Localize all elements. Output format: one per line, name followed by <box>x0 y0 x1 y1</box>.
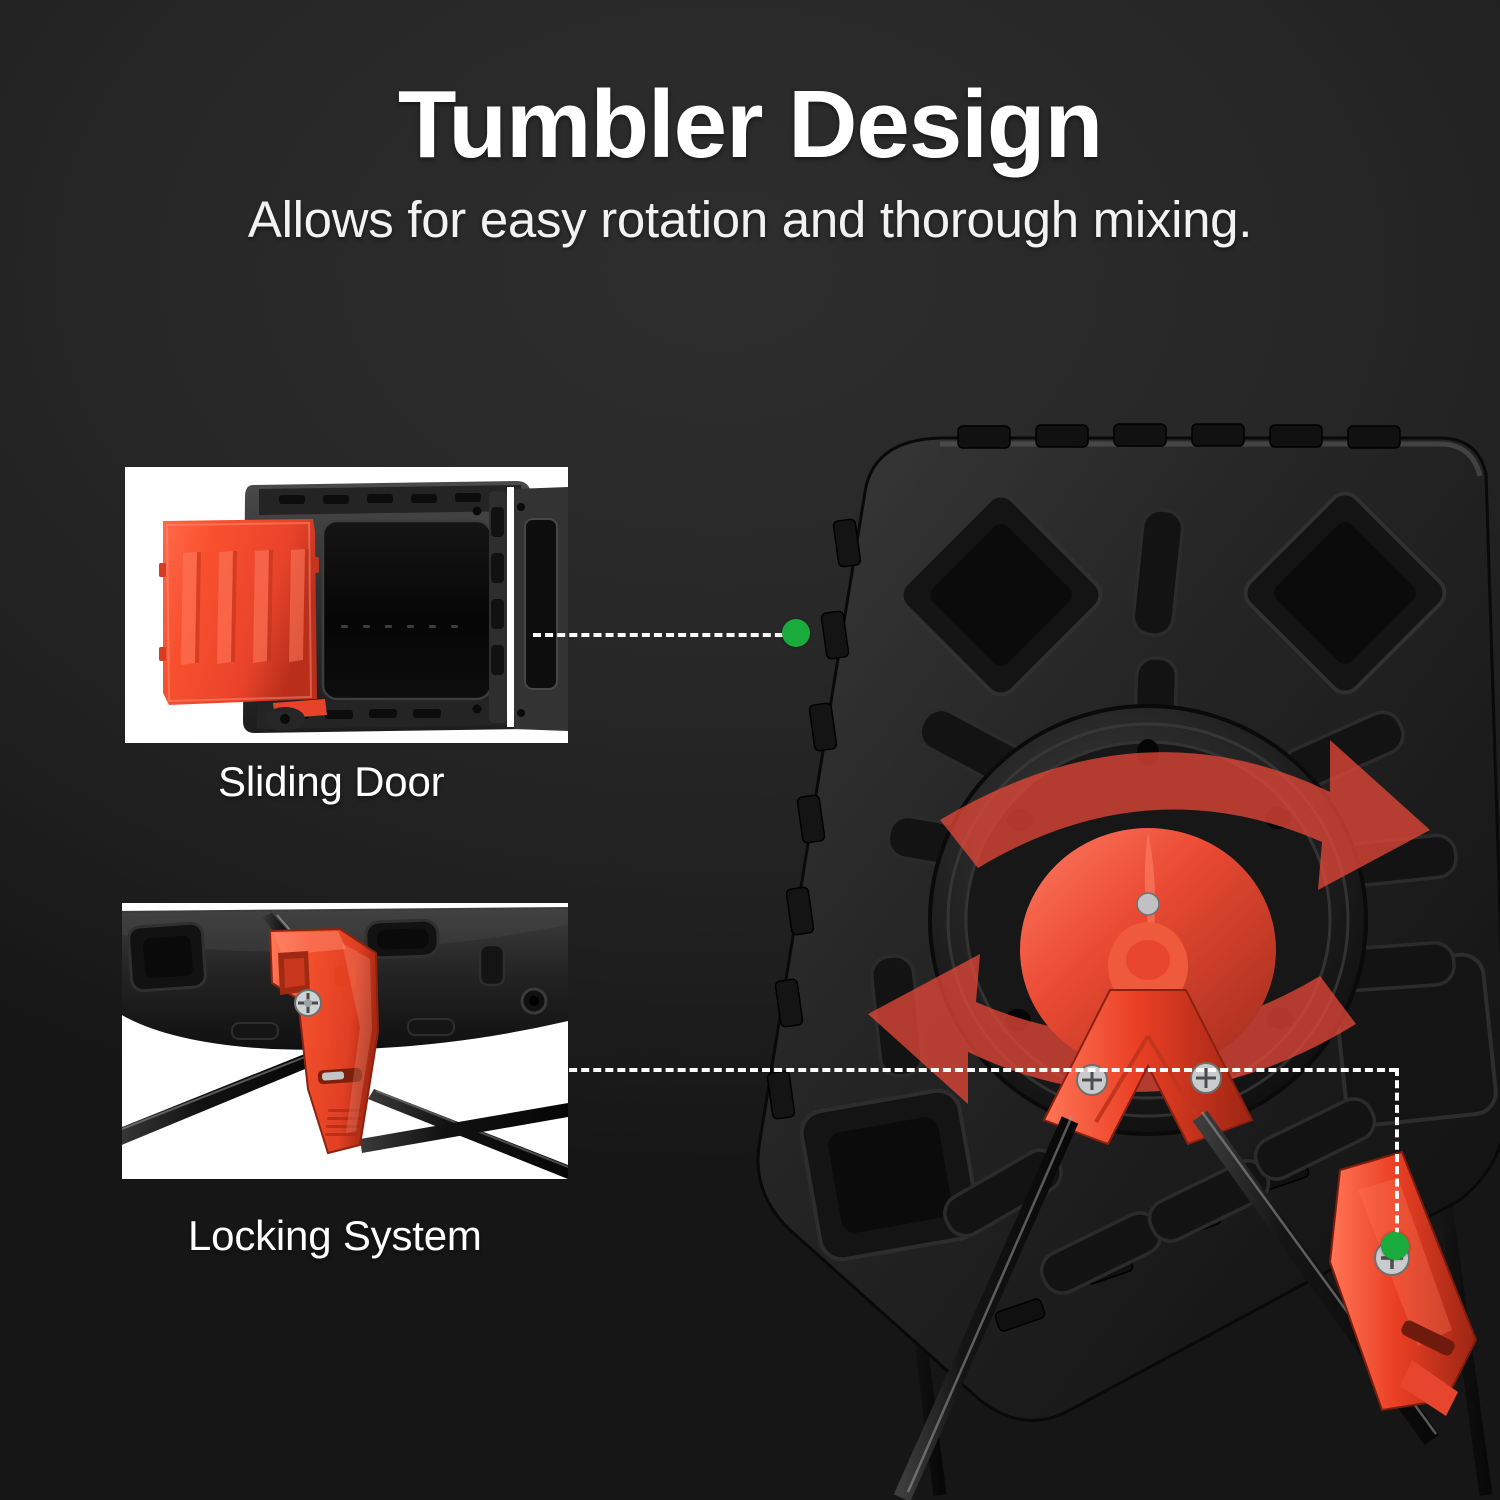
header: Tumbler Design Allows for easy rotation … <box>0 0 1500 249</box>
callout-dot-sliding-door <box>782 619 810 647</box>
inset-sliding-door <box>125 467 568 743</box>
callout-dot-locking-system <box>1381 1232 1409 1260</box>
sliding-door-photo <box>125 467 568 743</box>
callout-line-locking-system-vertical <box>1395 1068 1399 1248</box>
locking-system-photo <box>122 903 568 1179</box>
promo-banner: Tumbler Design Allows for easy rotation … <box>0 0 1500 1500</box>
callout-line-locking-system-horizontal <box>545 1068 1397 1072</box>
orange-door-panel <box>159 519 327 719</box>
inset-locking-system <box>122 903 568 1179</box>
caption-sliding-door: Sliding Door <box>218 758 444 806</box>
callout-line-sliding-door <box>533 633 795 637</box>
product-image-main <box>640 400 1500 1500</box>
caption-locking-system: Locking System <box>188 1212 482 1260</box>
page-title: Tumbler Design <box>0 74 1500 176</box>
page-subtitle: Allows for easy rotation and thorough mi… <box>0 190 1500 249</box>
